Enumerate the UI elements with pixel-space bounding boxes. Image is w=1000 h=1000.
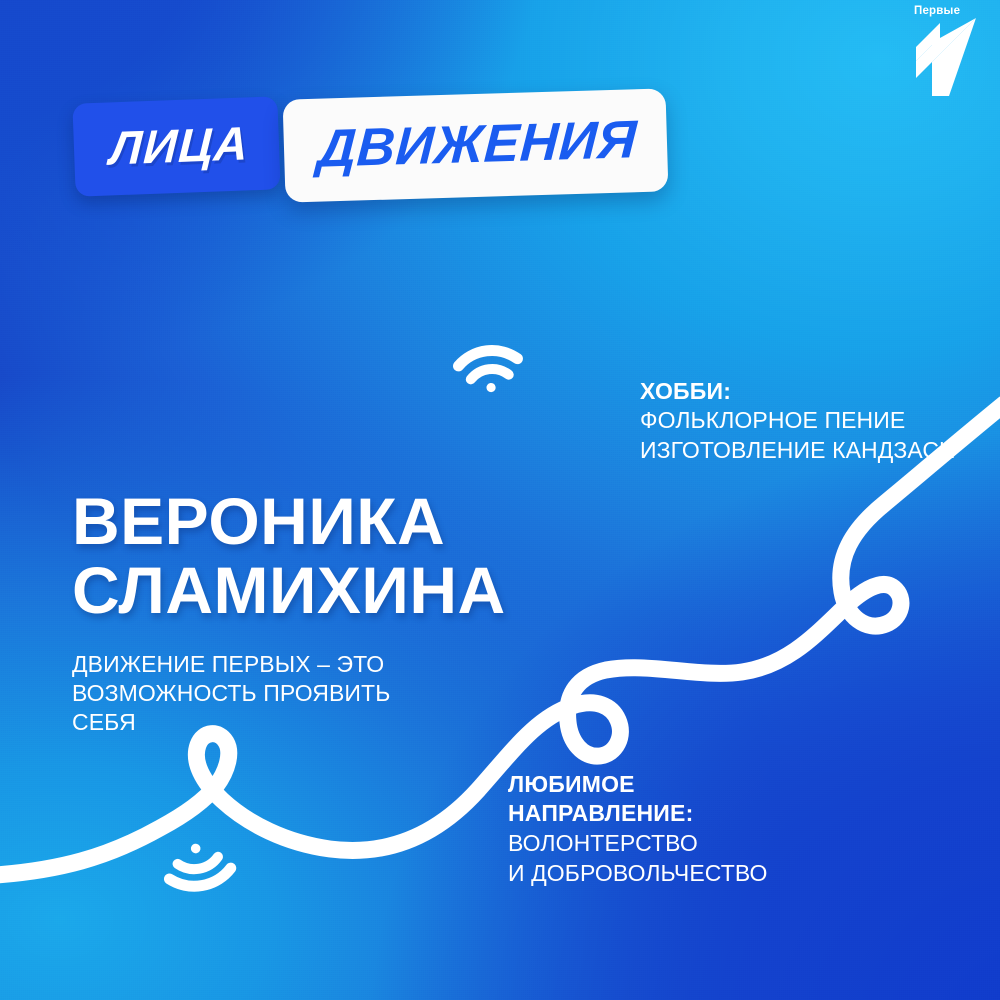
badge-lica: ЛИЦА (72, 96, 280, 196)
person-quote: ДВИЖЕНИЕ ПЕРВЫХ – ЭТО ВОЗМОЖНОСТЬ ПРОЯВИ… (72, 650, 442, 737)
direction-title-line-1: ЛЮБИМОЕ (508, 770, 768, 799)
badge-lica-label: ЛИЦА (109, 119, 250, 171)
person-last-name: СЛАМИХИНА (72, 556, 506, 625)
title-badge-stack: ЛИЦА ДВИЖЕНИЯ (72, 72, 667, 197)
brand-logo: Первые (892, 4, 988, 96)
poster-canvas: Первые ЛИЦА ДВИЖЕНИЯ ВЕРОНИКА СЛАМИХИНА … (0, 0, 1000, 1000)
badge-dvizheniya: ДВИЖЕНИЯ (282, 88, 668, 202)
direction-title-line-2: НАПРАВЛЕНИЕ: (508, 799, 768, 828)
direction-block: ЛЮБИМОЕ НАПРАВЛЕНИЕ: ВОЛОНТЕРСТВО И ДОБР… (508, 770, 768, 889)
hobby-item-1: ФОЛЬКЛОРНОЕ ПЕНИЕ (640, 406, 956, 436)
direction-item-1: ВОЛОНТЕРСТВО (508, 829, 768, 859)
quote-line-3: СЕБЯ (72, 708, 442, 737)
hobby-block: ХОББИ: ФОЛЬКЛОРНОЕ ПЕНИЕ ИЗГОТОВЛЕНИЕ КА… (640, 377, 956, 466)
arrow-one-mark-icon (892, 4, 988, 96)
person-first-name: ВЕРОНИКА (72, 487, 506, 556)
hobby-item-2: ИЗГОТОВЛЕНИЕ КАНДЗАСИ (640, 436, 956, 466)
direction-item-2: И ДОБРОВОЛЬЧЕСТВО (508, 859, 768, 889)
quote-line-2: ВОЗМОЖНОСТЬ ПРОЯВИТЬ (72, 679, 442, 708)
brand-logo-word: Первые (914, 6, 960, 18)
badge-dvizheniya-label: ДВИЖЕНИЯ (316, 113, 638, 176)
quote-line-1: ДВИЖЕНИЕ ПЕРВЫХ – ЭТО (72, 650, 442, 679)
hobby-title: ХОББИ: (640, 377, 956, 406)
person-name: ВЕРОНИКА СЛАМИХИНА (72, 487, 506, 624)
